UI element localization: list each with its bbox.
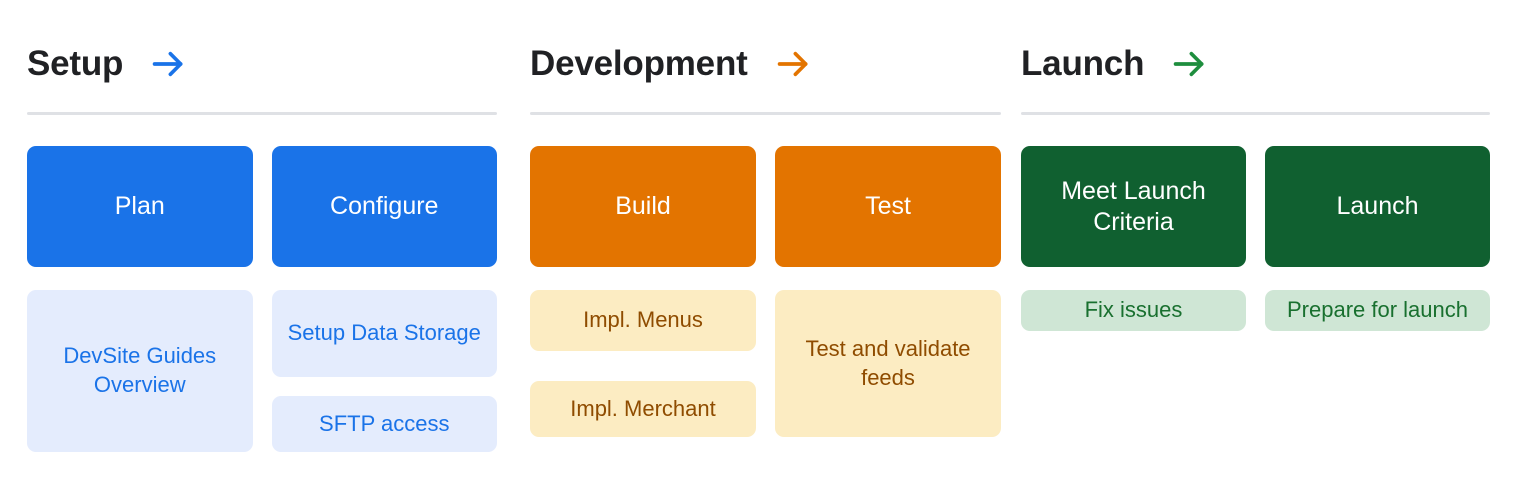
task-card[interactable]: Prepare for launch [1265, 290, 1490, 331]
phase-setup: Setup Plan DevSite Guides Overview Confi… [0, 0, 510, 484]
phase-development-header: Development [530, 0, 1001, 112]
subcards-plan: DevSite Guides Overview [27, 267, 253, 452]
task-card[interactable]: Impl. Menus [530, 290, 756, 351]
phase-development-columns: Build Impl. Menus Impl. Merchant Test Te… [530, 115, 1001, 437]
phase-setup-title: Setup [27, 44, 123, 84]
task-card[interactable]: Setup Data Storage [272, 290, 498, 377]
task-card[interactable]: SFTP access [272, 396, 498, 452]
task-card[interactable]: DevSite Guides Overview [27, 290, 253, 452]
column-build: Build Impl. Menus Impl. Merchant [530, 146, 756, 437]
stage-card-test[interactable]: Test [775, 146, 1001, 267]
stage-card-configure[interactable]: Configure [272, 146, 498, 267]
column-configure: Configure Setup Data Storage SFTP access [272, 146, 498, 452]
task-card[interactable]: Fix issues [1021, 290, 1246, 331]
subcards-meet-launch-criteria: Fix issues [1021, 267, 1246, 331]
subcards-configure: Setup Data Storage SFTP access [272, 267, 498, 452]
phase-setup-header: Setup [27, 0, 497, 112]
column-meet-launch-criteria: Meet Launch Criteria Fix issues [1021, 146, 1246, 331]
phase-launch-header: Launch [1021, 0, 1490, 112]
subcards-launch: Prepare for launch [1265, 267, 1490, 331]
task-card[interactable]: Test and validate feeds [775, 290, 1001, 437]
stage-card-plan[interactable]: Plan [27, 146, 253, 267]
column-plan: Plan DevSite Guides Overview [27, 146, 253, 452]
phase-launch-columns: Meet Launch Criteria Fix issues Launch P… [1021, 115, 1490, 331]
stage-card-meet-launch-criteria[interactable]: Meet Launch Criteria [1021, 146, 1246, 267]
stage-card-build[interactable]: Build [530, 146, 756, 267]
task-card[interactable]: Impl. Merchant [530, 381, 756, 437]
stage-card-launch[interactable]: Launch [1265, 146, 1490, 267]
phase-launch: Launch Meet Launch Criteria Fix issues L… [1006, 0, 1518, 484]
column-launch: Launch Prepare for launch [1265, 146, 1490, 331]
phase-launch-title: Launch [1021, 44, 1144, 84]
process-flow-diagram: Setup Plan DevSite Guides Overview Confi… [0, 0, 1518, 484]
column-test: Test Test and validate feeds [775, 146, 1001, 437]
arrow-right-icon [149, 45, 187, 83]
phase-setup-columns: Plan DevSite Guides Overview Configure S… [27, 115, 497, 452]
subcards-build: Impl. Menus Impl. Merchant [530, 267, 756, 437]
phase-development: Development Build Impl. Menus Impl. Merc… [510, 0, 1006, 484]
subcards-test: Test and validate feeds [775, 267, 1001, 437]
phase-development-title: Development [530, 44, 748, 84]
arrow-right-icon [774, 45, 812, 83]
arrow-right-icon [1170, 45, 1208, 83]
